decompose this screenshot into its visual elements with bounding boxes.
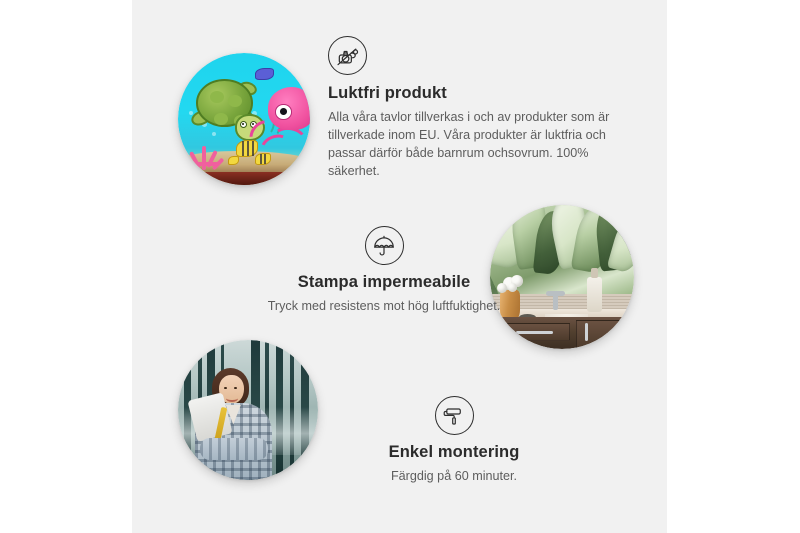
coral: [186, 140, 226, 177]
feature-body: Tryck med resistens mot hög luftfuktighe…: [214, 297, 554, 315]
no-fragrance-icon: [328, 36, 367, 75]
photo-underwater-image: [178, 53, 310, 185]
fish-yellow-small: [255, 153, 271, 165]
photo-underwater: [178, 53, 310, 185]
octopus-head: [268, 87, 310, 129]
door-handle: [585, 323, 588, 341]
paint-roller-icon: [435, 396, 474, 435]
soap-dispenser: [587, 277, 603, 312]
feature-waterproof: Stampa impermeabile Tryck med resistens …: [214, 226, 554, 315]
fish-blue: [255, 68, 274, 80]
feature-body: Alla våra tavlor tillverkas i och av pro…: [328, 108, 628, 181]
drawer-handle: [516, 331, 553, 334]
feature-body: Färgdig på 60 minuter.: [316, 467, 592, 485]
feature-odourless: Luktfri produkt Alla våra tavlor tillver…: [328, 36, 628, 181]
octopus-eye: [275, 104, 291, 120]
woman-folded-arms: [200, 438, 267, 460]
umbrella-icon: [365, 226, 404, 265]
screenshot-root: Luktfri produkt Alla våra tavlor tillver…: [0, 0, 800, 533]
feature-title: Enkel montering: [316, 442, 592, 463]
feature-title: Luktfri produkt: [328, 83, 628, 104]
photo-forest-image: [178, 340, 318, 480]
content-panel: Luktfri produkt Alla våra tavlor tillver…: [132, 0, 667, 533]
vanity-cabinet: [490, 317, 634, 349]
photo-forest: [178, 340, 318, 480]
faucet: [553, 291, 557, 310]
feature-install: Enkel montering Färgdig på 60 minuter.: [316, 396, 592, 485]
feature-title: Stampa impermeabile: [214, 272, 554, 293]
